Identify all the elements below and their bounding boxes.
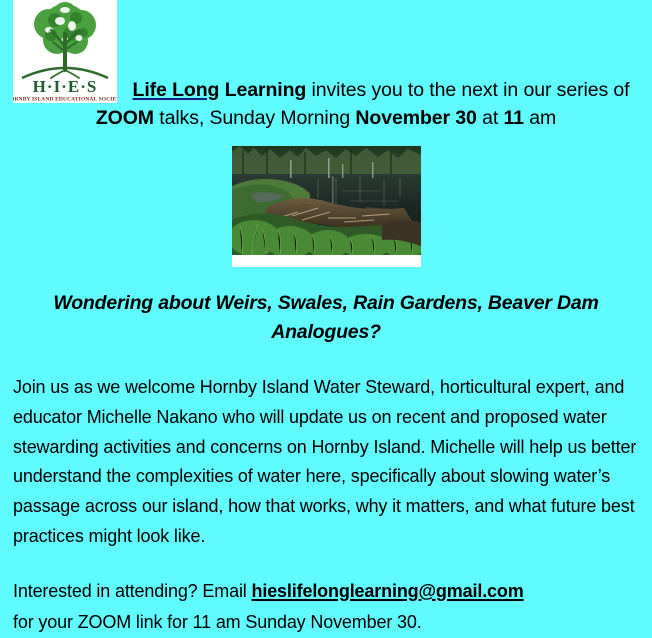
- svg-text:H·I·E·S: H·I·E·S: [33, 77, 98, 96]
- beaver-dam-illustration: [232, 146, 421, 255]
- photo-frame: [232, 146, 421, 267]
- header-text-2: talks, Sunday Morning: [154, 107, 355, 129]
- life-long-link[interactable]: Life Long: [133, 79, 220, 101]
- beaver-dam-photo: [232, 146, 421, 255]
- newsletter-page: H·I·E·S HORNBY ISLAND EDUCATIONAL SOCIET…: [0, 0, 652, 604]
- header-text-4: am: [524, 107, 556, 129]
- email-link[interactable]: hieslifelonglearning@gmail.com: [252, 581, 524, 601]
- contact-suffix: for your ZOOM link for 11 am Sunday Nove…: [13, 612, 422, 632]
- hies-logo: H·I·E·S HORNBY ISLAND EDUCATIONAL SOCIET…: [13, 0, 117, 103]
- learning-label: Learning: [225, 79, 307, 101]
- contact-prefix: Interested in attending? Email: [13, 581, 252, 601]
- page-headline: Wondering about Weirs, Swales, Rain Gard…: [13, 289, 639, 347]
- event-date: November 30: [355, 107, 476, 129]
- header-text-1: invites you to the next in our series of: [306, 79, 629, 101]
- zoom-label: ZOOM: [96, 107, 154, 129]
- hies-logo-graphic: H·I·E·S HORNBY ISLAND EDUCATIONAL SOCIET…: [13, 0, 117, 103]
- header-text-3: at: [477, 107, 504, 129]
- body-paragraph: Join us as we welcome Hornby Island Wate…: [13, 373, 639, 552]
- header-block: H·I·E·S HORNBY ISLAND EDUCATIONAL SOCIET…: [0, 0, 652, 132]
- svg-text:HORNBY ISLAND EDUCATIONAL SOCI: HORNBY ISLAND EDUCATIONAL SOCIETY: [13, 97, 117, 103]
- contact-paragraph: Interested in attending? Email hieslifel…: [13, 576, 639, 638]
- event-time: 11: [504, 107, 524, 129]
